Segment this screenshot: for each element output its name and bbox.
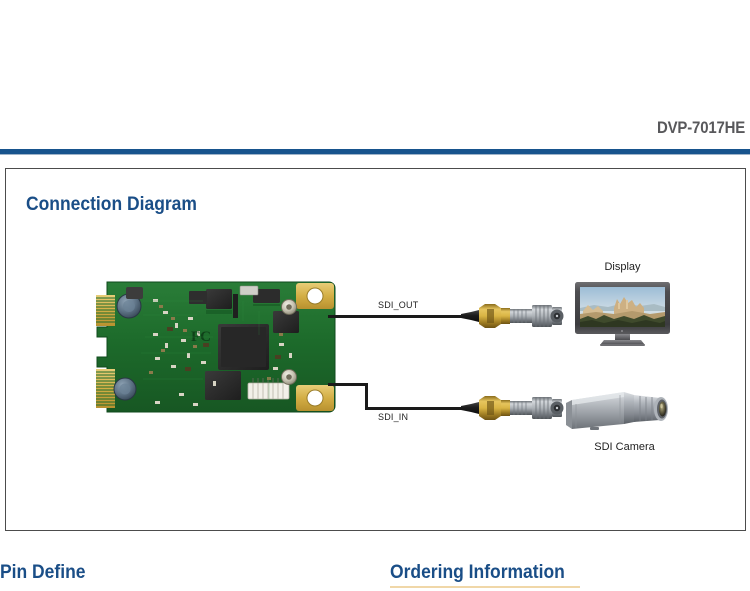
sma-to-bnc-connector-in xyxy=(461,391,566,425)
label-sdi-in: SDI_IN xyxy=(378,412,408,422)
label-sdi-out: SDI_OUT xyxy=(378,300,418,310)
connection-diagram-panel: Connection Diagram xyxy=(5,168,746,531)
section-heading-ordering-information: Ordering Information xyxy=(390,562,565,584)
page-title: DVP-7017HE xyxy=(657,118,745,138)
display-device-group: Display xyxy=(570,261,675,347)
display-label: Display xyxy=(570,261,675,273)
sdi-camera-label: SDI Camera xyxy=(562,441,687,453)
mini-pcie-capture-card-image: FC xyxy=(93,281,336,413)
edge-connector-fingers-lower xyxy=(96,369,115,408)
cable-sdi-in-segment-3 xyxy=(365,407,468,410)
cable-sdi-out xyxy=(328,315,468,318)
edge-connector-fingers-upper xyxy=(96,295,115,326)
ordering-information-accent-rule xyxy=(390,586,580,588)
connection-diagram-stage: FC SDI_OUT SDI_IN xyxy=(6,169,747,532)
ufl-connector-bottom xyxy=(282,370,297,385)
sdi-camera-group: SDI Camera xyxy=(562,384,687,462)
cable-sdi-in-segment-1 xyxy=(328,383,368,386)
mounting-hole-top xyxy=(296,283,334,309)
mounting-hole-bottom xyxy=(296,385,334,411)
page-header: DVP-7017HE xyxy=(0,0,750,160)
monitor-icon xyxy=(574,281,671,347)
ufl-connector-top xyxy=(282,300,297,315)
section-heading-pin-define: Pin Define xyxy=(0,562,85,584)
cable-sdi-in-segment-2 xyxy=(365,383,368,410)
sma-to-bnc-connector-out xyxy=(461,299,566,333)
header-divider-shadow xyxy=(0,154,750,155)
camera-icon xyxy=(562,384,680,439)
